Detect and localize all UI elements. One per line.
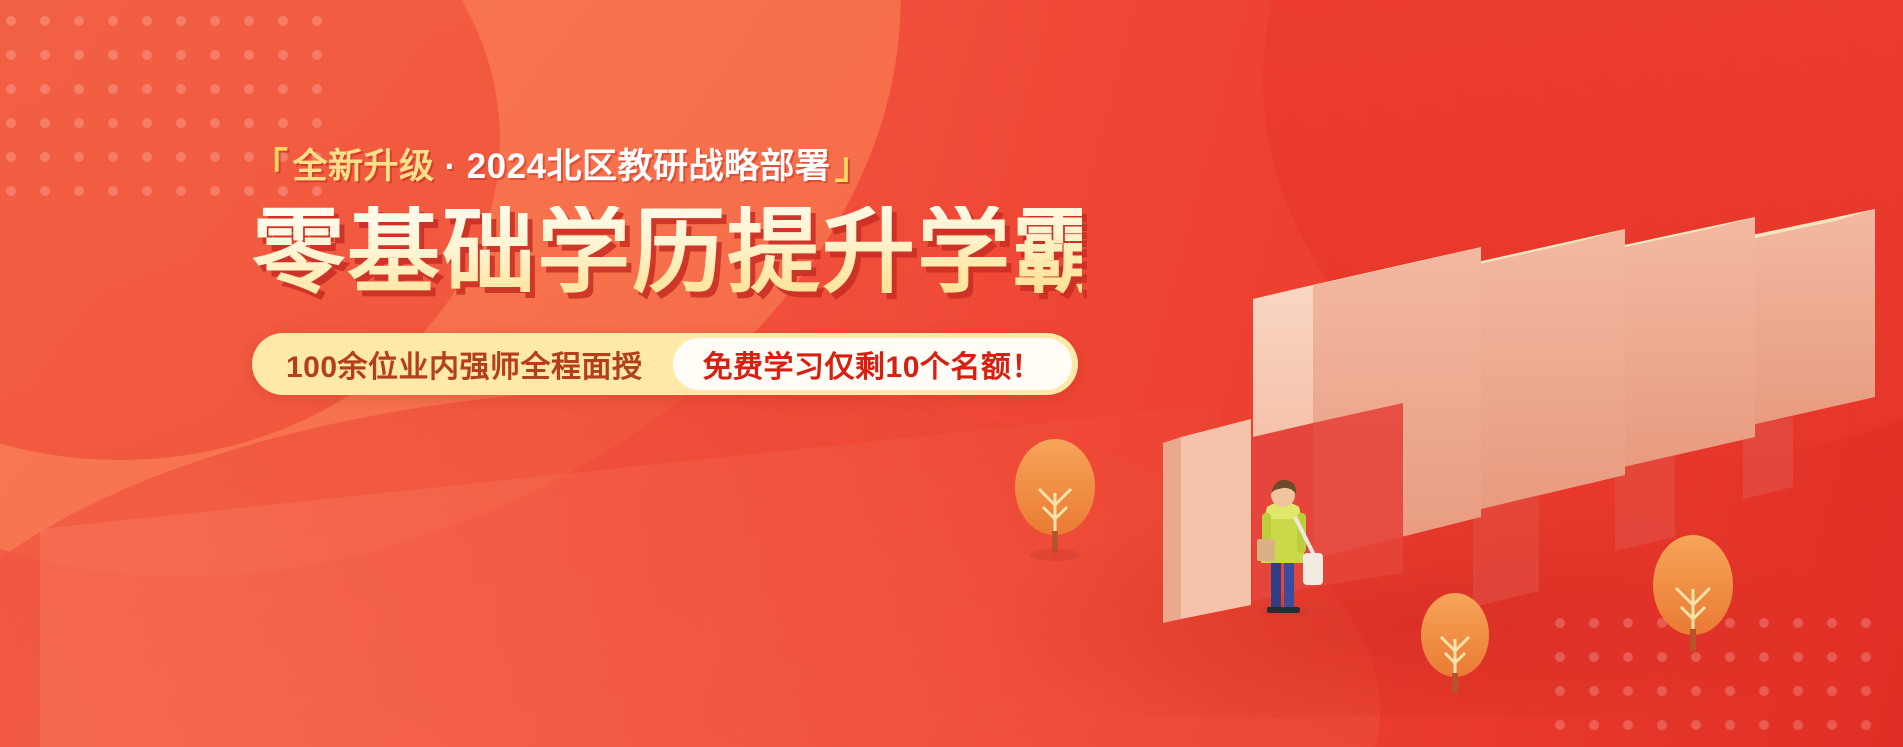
eyebrow-rest: 2024北区教研战略部署 <box>467 149 831 184</box>
bracket-right: 」 <box>835 148 872 184</box>
bracket-left: 「 <box>252 148 289 184</box>
tree-right <box>1653 535 1733 651</box>
banner-copy: 「 全新升级 · 2024北区教研战略部署 」 零基础学历提升学霸班 100余位… <box>252 148 1082 395</box>
banner-eyebrow: 「 全新升级 · 2024北区教研战略部署 」 <box>252 148 1082 184</box>
banner-headline: 零基础学历提升学霸班 <box>252 206 1082 299</box>
eyebrow-separator-dot: · <box>445 149 457 184</box>
tree-left <box>1015 439 1095 561</box>
tree-mid <box>1421 593 1489 693</box>
pill-seats-remaining-badge[interactable]: 免费学习仅剩10个名额！ <box>673 338 1072 390</box>
book-arch-illustration <box>1003 0 1903 747</box>
eyebrow-highlight: 全新升级 <box>293 149 435 184</box>
banner-pill-group: 100余位业内强师全程面授 免费学习仅剩10个名额！ <box>252 333 1078 395</box>
promo-banner: 「 全新升级 · 2024北区教研战略部署 」 零基础学历提升学霸班 100余位… <box>0 0 1903 747</box>
pill-teachers-label: 100余位业内强师全程面授 <box>252 333 673 395</box>
left-pillar <box>1163 419 1251 623</box>
